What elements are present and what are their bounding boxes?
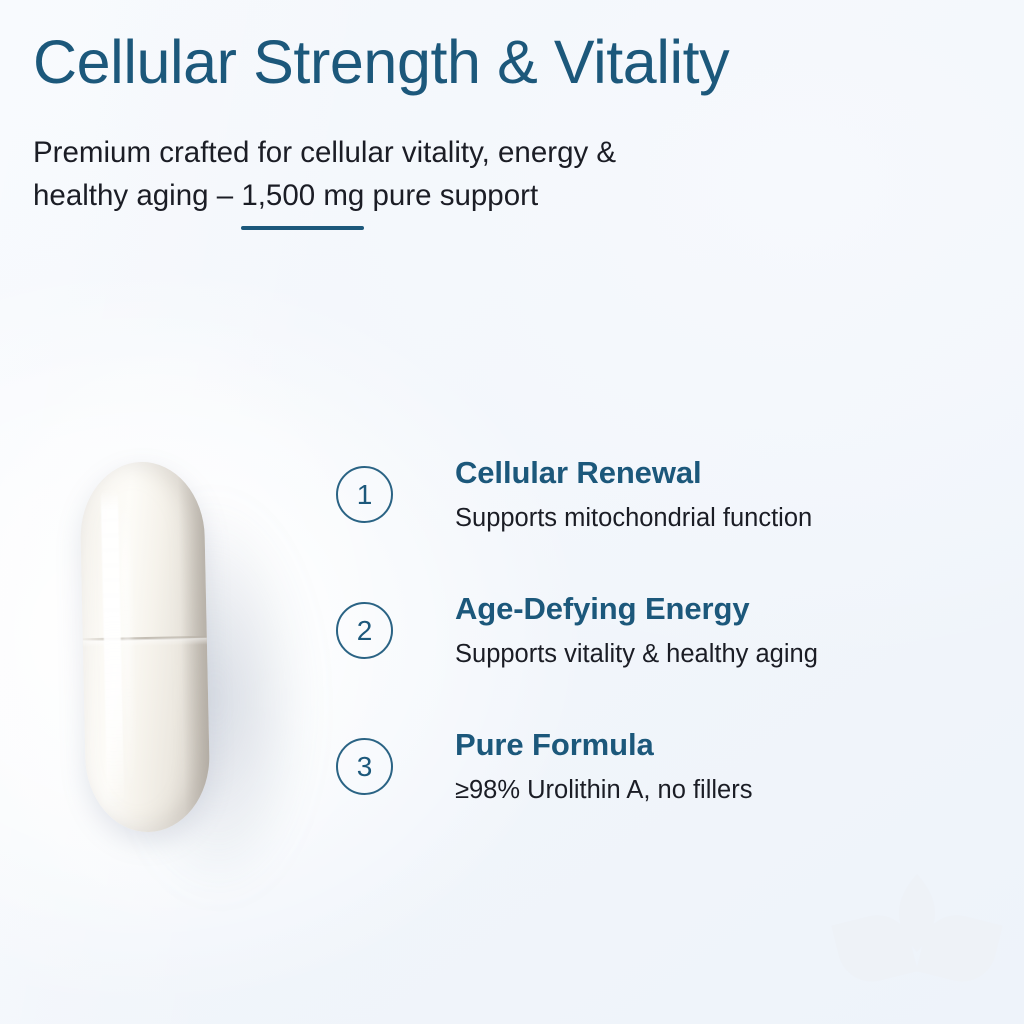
header: Cellular Strength & Vitality Premium cra…	[33, 28, 973, 218]
benefit-item-2: 2 Age-Defying Energy Supports vitality &…	[336, 588, 976, 680]
product-image	[40, 420, 340, 890]
benefit-description: Supports vitality & healthy aging	[455, 639, 818, 671]
page-title: Cellular Strength & Vitality	[33, 28, 973, 96]
page-subtitle: Premium crafted for cellular vitality, e…	[33, 132, 863, 218]
benefit-title: Age-Defying Energy	[455, 590, 818, 627]
benefit-item-1: 1 Cellular Renewal Supports mitochondria…	[336, 452, 976, 544]
white-capsule	[79, 461, 211, 834]
benefit-number-badge: 1	[336, 466, 393, 523]
benefit-description: ≥98% Urolithin A, no fillers	[455, 775, 752, 807]
benefit-title: Cellular Renewal	[455, 454, 812, 491]
dosage-highlight: 1,500 mg	[241, 175, 364, 218]
benefit-description: Supports mitochondrial function	[455, 503, 812, 535]
subtitle-line-2-suffix: pure support	[364, 179, 538, 212]
benefit-number-badge: 3	[336, 738, 393, 795]
benefit-number-badge: 2	[336, 602, 393, 659]
subtitle-line-2-prefix: healthy aging –	[33, 179, 241, 212]
benefit-content: Age-Defying Energy Supports vitality & h…	[455, 588, 818, 671]
subtitle-line-1: Premium crafted for cellular vitality, e…	[33, 132, 863, 175]
promo-canvas: Cellular Strength & Vitality Premium cra…	[0, 0, 1024, 1024]
benefit-content: Cellular Renewal Supports mitochondrial …	[455, 452, 812, 535]
benefit-item-3: 3 Pure Formula ≥98% Urolithin A, no fill…	[336, 724, 976, 816]
benefit-title: Pure Formula	[455, 726, 752, 763]
subtitle-line-2: healthy aging – 1,500 mg pure support	[33, 175, 863, 218]
benefits-list: 1 Cellular Renewal Supports mitochondria…	[336, 452, 976, 816]
benefit-content: Pure Formula ≥98% Urolithin A, no filler…	[455, 724, 752, 807]
